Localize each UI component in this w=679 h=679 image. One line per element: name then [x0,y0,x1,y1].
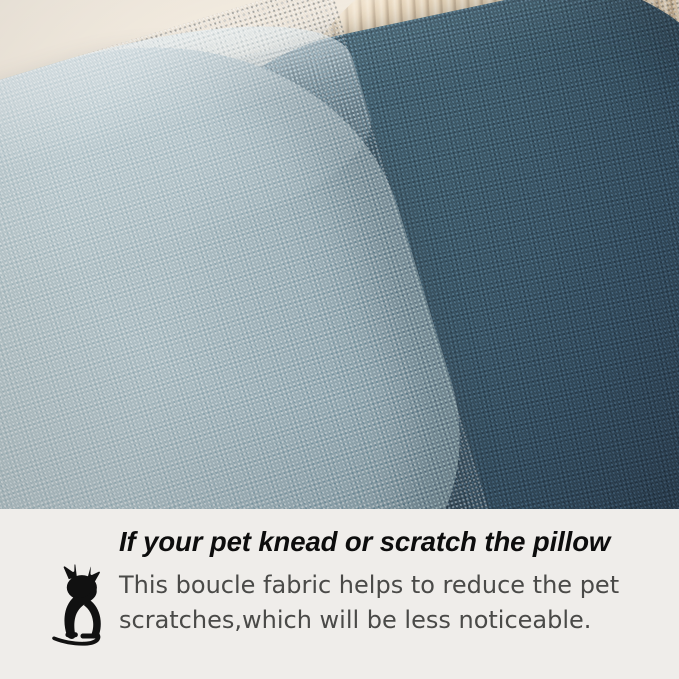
feature-copy: If your pet knead or scratch the pillow … [119,525,655,638]
feature-body-line-2: scratches,which will be less noticeable. [119,603,589,638]
product-feature-screenshot: If your pet knead or scratch the pillow … [0,0,679,679]
feature-text-panel: If your pet knead or scratch the pillow … [0,509,679,679]
feature-body: This boucle fabric helps to reduce the p… [119,568,589,638]
feature-headline: If your pet knead or scratch the pillow [119,525,655,559]
photo-vignette [0,0,679,509]
product-photo [0,0,679,509]
cat-silhouette-icon [38,557,122,649]
feature-body-line-1: This boucle fabric helps to reduce the p… [119,568,589,603]
